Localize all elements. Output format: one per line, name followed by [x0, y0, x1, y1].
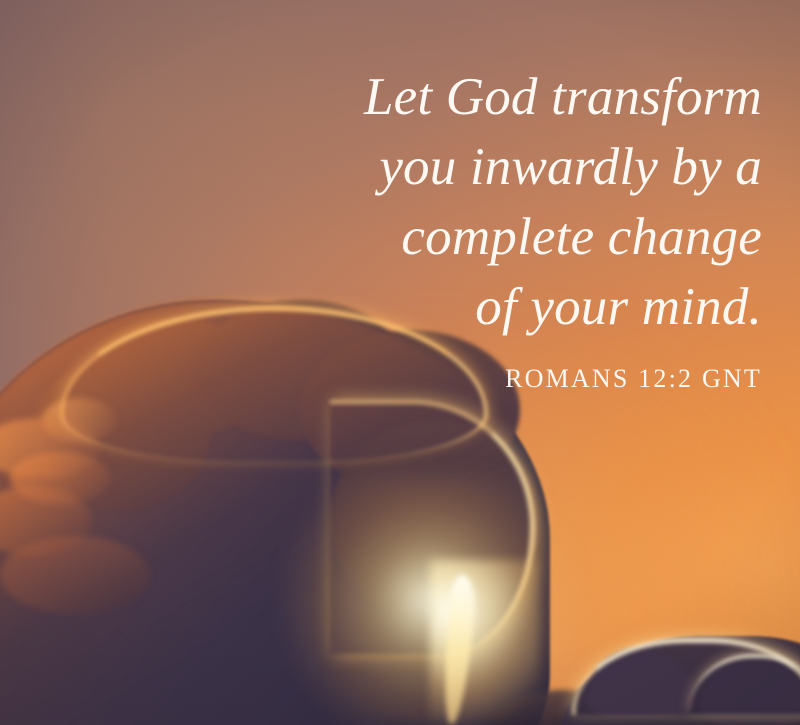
quote-text-block: Let God transform you inwardly by a comp… — [242, 62, 762, 394]
scripture-reference: ROMANS 12:2 GNT — [242, 364, 762, 394]
quote-line-4: of your mind. — [242, 272, 762, 342]
cloud-wisp-lower — [0, 536, 150, 614]
quote-line-3: complete change — [242, 202, 762, 272]
quote-line-1: Let God transform — [242, 62, 762, 132]
quote-line-2: you inwardly by a — [242, 132, 762, 202]
quote-image-canvas: Let God transform you inwardly by a comp… — [0, 0, 800, 725]
